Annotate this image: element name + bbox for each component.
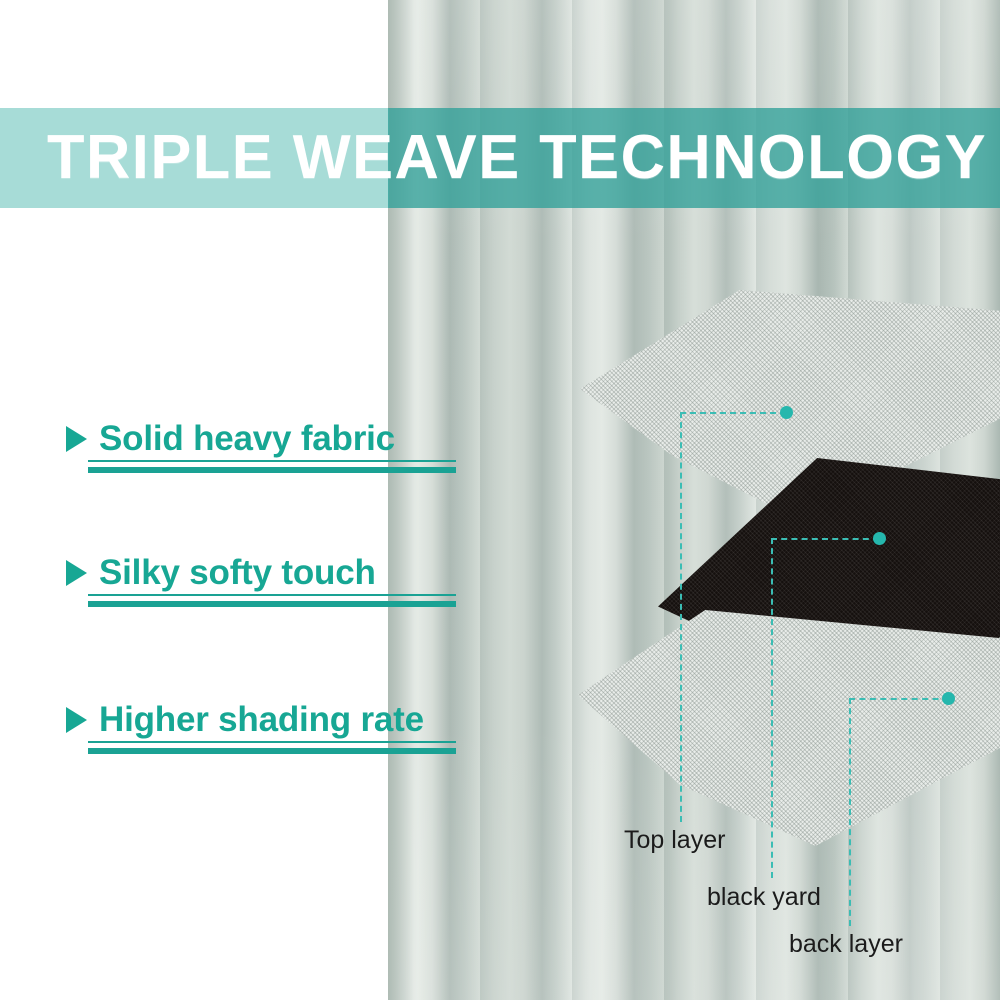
triangle-right-icon — [66, 707, 87, 733]
feature-item-1: Solid heavy fabric — [0, 418, 470, 462]
leader-line-black-yard-vertical — [771, 538, 773, 878]
leader-dot-black-yard — [873, 532, 886, 545]
feature-item-3: Higher shading rate — [0, 699, 470, 743]
triangle-right-icon — [66, 426, 87, 452]
headline-banner: TRIPLE WEAVE TECHNOLOGY — [0, 108, 1000, 208]
feature-label-3: Higher shading rate — [99, 699, 424, 741]
fabric-sheet-back-layer — [578, 610, 1000, 846]
feature-rule-thin-1 — [88, 460, 456, 462]
product-infographic: TRIPLE WEAVE TECHNOLOGY Solid heavy fabr… — [0, 0, 1000, 1000]
leader-line-top-layer-horizontal — [680, 412, 786, 414]
feature-label-1: Solid heavy fabric — [99, 418, 395, 460]
feature-rule-thick-1 — [88, 467, 456, 473]
triangle-right-icon — [66, 560, 87, 586]
callout-label-top-layer: Top layer — [624, 825, 725, 855]
feature-rule-thick-2 — [88, 601, 456, 607]
feature-label-2: Silky softy touch — [99, 552, 376, 594]
leader-line-back-layer-vertical — [849, 698, 851, 926]
feature-rule-thin-3 — [88, 741, 456, 743]
feature-item-2: Silky softy touch — [0, 552, 470, 596]
leader-dot-back-layer — [942, 692, 955, 705]
triple-weave-layer-diagram — [560, 280, 1000, 840]
leader-line-top-layer-vertical — [680, 412, 682, 822]
callout-label-black-yard: black yard — [707, 882, 821, 912]
leader-dot-top-layer — [780, 406, 793, 419]
callout-label-back-layer: back layer — [789, 929, 903, 959]
page-title: TRIPLE WEAVE TECHNOLOGY — [47, 108, 987, 208]
leader-line-black-yard-horizontal — [771, 538, 879, 540]
feature-rule-thick-3 — [88, 748, 456, 754]
leader-line-back-layer-horizontal — [849, 698, 949, 700]
feature-rule-thin-2 — [88, 594, 456, 596]
